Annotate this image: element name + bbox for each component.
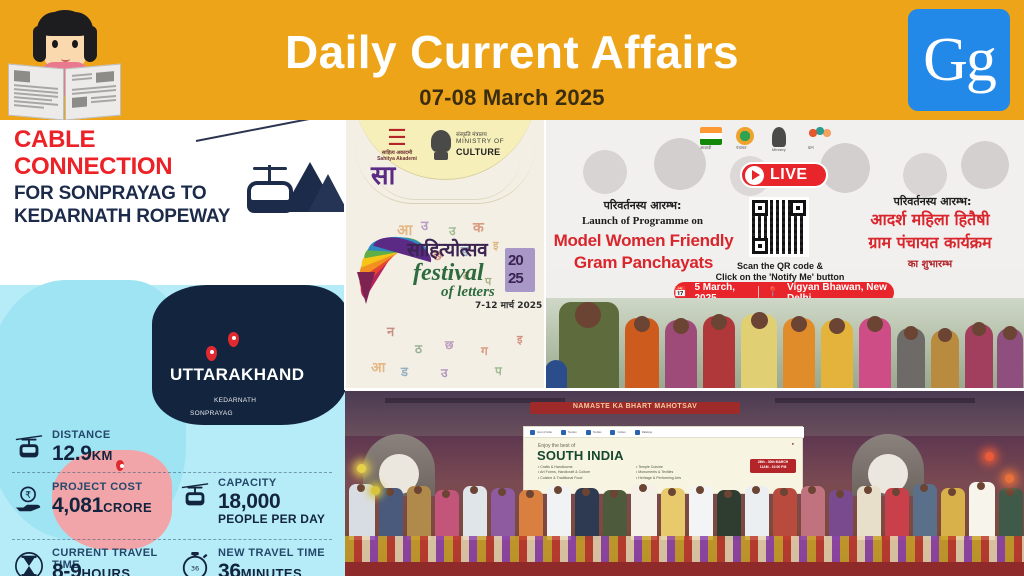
government-emblem-logo: Ministry: [772, 127, 798, 147]
stat-value: 36MINUTES: [218, 560, 302, 576]
brand-logo-text: Gg: [923, 29, 995, 91]
page-title: Daily Current Affairs: [0, 26, 1024, 78]
hourglass-icon: [14, 551, 44, 576]
qr-instruction-line2: Click on the 'Notify Me' button: [685, 272, 875, 282]
led-screen-logo-bar: Govt of India Tourism Textiles Culture R…: [524, 427, 804, 438]
stat-value: 12.9KM: [52, 442, 113, 466]
azadi-ka-amrit-mahotsav-logo: आज़ादी: [700, 127, 726, 147]
ropeway-headline-dark: FOR SONPRAYAG TO KEDARNATH ROPEWAY: [14, 182, 230, 228]
women-group-photo: [545, 298, 1024, 390]
panel-divider-horizontal: [345, 388, 1024, 391]
right-programme-title: आदर्श महिला हितैषी ग्राम पंचायत कार्यक्र…: [839, 208, 1021, 254]
floral-stage-decoration: [345, 536, 1024, 562]
stat-value: 4,081CRORE: [52, 494, 152, 518]
ministry-hindi-label: संस्कृति मंत्रालय: [456, 130, 487, 138]
mountain-secondary-icon: [308, 174, 345, 212]
ministry-line1: MINISTRY OF: [456, 138, 504, 145]
ropeway-infographic-panel: CABLE CONNECTION FOR SONPRAYAG TO KEDARN…: [0, 120, 345, 576]
cable-car-icon: [180, 481, 210, 511]
ministry-flower-logo: पंचायत: [736, 127, 762, 147]
sahitya-akademi-mark: ☰: [377, 126, 417, 150]
panchayati-raj-logo: ग्राम: [808, 127, 834, 147]
national-emblem-icon: [429, 128, 453, 162]
live-badge[interactable]: LIVE: [740, 162, 828, 188]
left-launch-subtitle: Launch of Programme on: [555, 215, 730, 227]
qr-code-icon[interactable]: [749, 197, 809, 257]
right-hindi-kicker: परिवर्तनस्य आरम्भ:: [845, 194, 1020, 209]
stat-label: NEW TRAVEL TIME: [218, 547, 325, 559]
stage-light: [357, 464, 366, 473]
cable-car-icon: [14, 433, 44, 463]
page-header: Daily Current Affairs 07-08 March 2025 G…: [0, 0, 1024, 120]
map-state-label: UTTARAKHAND: [170, 365, 304, 385]
stat-label: CAPACITY: [218, 477, 277, 489]
ministry-of-culture-logo: संस्कृति मंत्रालय MINISTRY OF CULTURE: [429, 128, 529, 168]
location-pin-icon: 📍: [767, 287, 779, 298]
play-circle-icon: [745, 166, 764, 185]
stat-value: 8-9HOURS: [52, 560, 130, 576]
stage-banner-text: NAMASTE KA BHART MAHOTSAV: [530, 403, 740, 410]
right-programme-subtitle: का शुभारम्भ: [845, 256, 1015, 270]
stage-light: [985, 452, 994, 461]
screen-emblem: ●: [792, 441, 794, 446]
stage-light: [1005, 474, 1014, 483]
event-crowd: [345, 478, 1024, 540]
south-india-event-photo: NAMASTE KA BHART MAHOTSAV Govt of India …: [345, 390, 1024, 576]
sahityotsav-logo-letter: सा: [371, 156, 395, 192]
brand-logo[interactable]: Gg: [908, 9, 1010, 111]
qr-instruction-line1: Scan the QR code &: [695, 261, 865, 271]
svg-text:36: 36: [191, 565, 199, 573]
stage-front-edge: [345, 562, 1024, 576]
ropeway-cable-line: [196, 120, 344, 142]
ropeway-stats-group: DISTANCE 12.9KM ₹ PROJECT COST 4,081CROR…: [0, 415, 345, 576]
stopwatch-icon: 36: [180, 551, 210, 576]
ropeway-headline-red: CABLE CONNECTION: [14, 126, 172, 180]
stage-light: [371, 486, 380, 495]
sahityotsav-title-festival: festival: [413, 260, 484, 287]
stat-divider: [12, 539, 332, 540]
stat-label: DISTANCE: [52, 429, 111, 441]
government-logos-row: आज़ादी पंचायत Ministry ग्राम: [700, 126, 880, 148]
left-hindi-kicker: परिवर्तनस्य आरम्भ:: [555, 198, 730, 213]
infographic-page: Daily Current Affairs 07-08 March 2025 G…: [0, 0, 1024, 576]
stat-sublabel: PEOPLE PER DAY: [218, 512, 325, 526]
panel-divider-vertical-1: [344, 120, 346, 390]
sahityotsav-poster-panel: ☰ साहित्य अकादमी Sahitya Akademi संस्कृत…: [345, 120, 545, 390]
map-pin-label-kedarnath: KEDARNATH: [214, 397, 256, 404]
sahityotsav-year-text: 20 25: [508, 252, 523, 288]
screen-title: SOUTH INDIA: [537, 448, 624, 463]
stat-value: 18,000: [218, 490, 280, 514]
stat-divider: [12, 472, 332, 473]
rupee-hand-icon: ₹: [14, 485, 44, 515]
sahityotsav-title-hindi: साहित्योत्सव: [407, 236, 487, 262]
ministry-line2: CULTURE: [456, 147, 500, 157]
svg-text:₹: ₹: [25, 490, 31, 501]
gram-panchayat-banner-panel: आज़ादी पंचायत Ministry ग्राम परिवर्तनस्य…: [545, 120, 1024, 390]
live-label: LIVE: [770, 166, 808, 184]
gondola-cable-car-icon: [247, 165, 293, 217]
sahityotsav-dates: 7-12 मार्च 2025: [475, 298, 542, 311]
panel-divider-vertical-2: [544, 120, 546, 390]
ropeway-header-area: CABLE CONNECTION FOR SONPRAYAG TO KEDARN…: [0, 120, 345, 285]
calendar-icon: 📅: [674, 287, 686, 298]
map-uttarakhand-shape: [152, 285, 345, 425]
screen-date-badge-text: 28th - 30th MARCH 11AM - 10:00 PM: [751, 460, 795, 470]
stat-label: PROJECT COST: [52, 481, 142, 493]
page-date: 07-08 March 2025: [0, 85, 1024, 111]
